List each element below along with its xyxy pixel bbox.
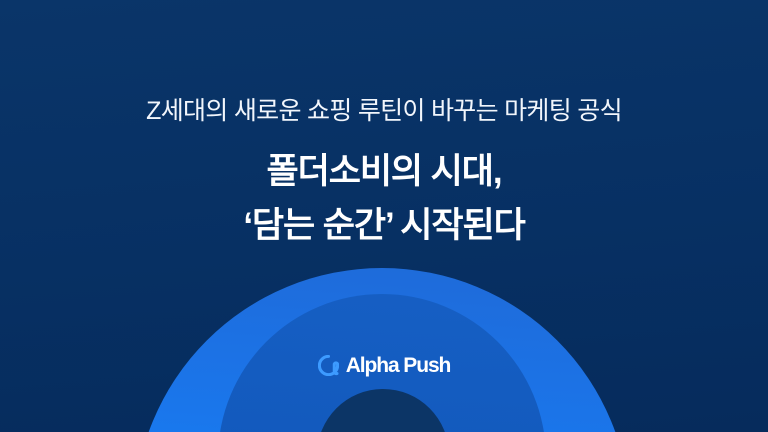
thumbnail-canvas: Z세대의 새로운 쇼핑 루틴이 바꾸는 마케팅 공식 폴더소비의 시대, ‘담는… — [0, 0, 768, 432]
brand-logo-text: Alpha Push — [346, 355, 451, 376]
hero-headline-line-2: ‘담는 순간’ 시작된다 — [243, 201, 524, 251]
hero-headline: 폴더소비의 시대, ‘담는 순간’ 시작된다 — [243, 147, 524, 250]
alpha-push-mark-icon — [318, 355, 339, 376]
hero-headline-line-1: 폴더소비의 시대, — [243, 147, 524, 197]
hero-eyebrow: Z세대의 새로운 쇼핑 루틴이 바꾸는 마케팅 공식 — [146, 96, 622, 127]
brand-logo-lockup: Alpha Push — [0, 355, 768, 376]
